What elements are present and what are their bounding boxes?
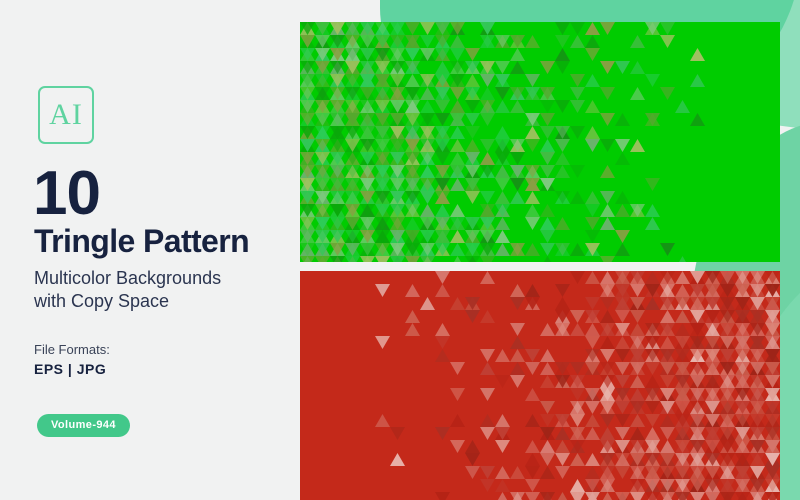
- red-triangle-pattern: [300, 271, 780, 500]
- page-subtitle: Multicolor Backgrounds with Copy Space: [34, 267, 299, 314]
- file-formats-label: File Formats:: [34, 342, 110, 357]
- poster-canvas: AI 10 Tringle Pattern Multicolor Backgro…: [0, 0, 800, 500]
- volume-badge: Volume-944: [37, 414, 130, 437]
- green-triangle-banner: [300, 22, 780, 262]
- file-formats-value: EPS | JPG: [34, 361, 106, 377]
- info-panel: AI 10 Tringle Pattern Multicolor Backgro…: [0, 0, 300, 500]
- item-count: 10: [33, 163, 100, 225]
- adobe-illustrator-icon: AI: [38, 86, 94, 144]
- red-triangle-banner: [300, 271, 780, 500]
- green-triangle-pattern: [300, 22, 780, 262]
- page-title: Tringle Pattern: [34, 225, 249, 257]
- ai-badge-label: AI: [49, 100, 83, 130]
